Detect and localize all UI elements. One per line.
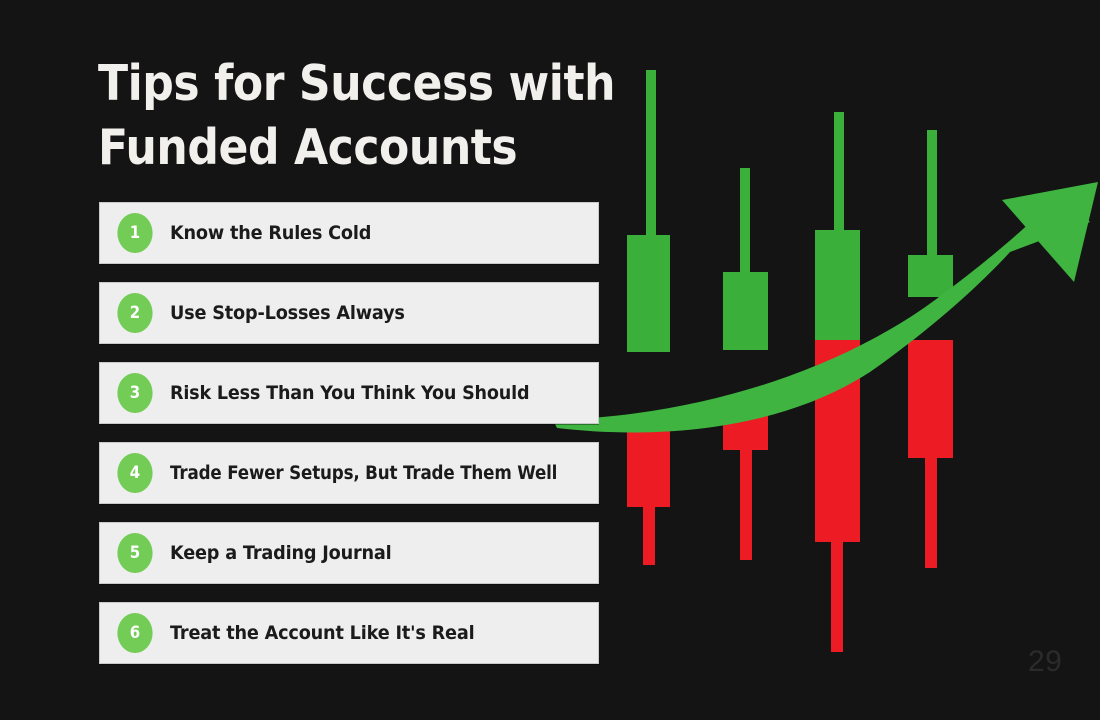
candle-bullish-4 [908,130,953,297]
tip-number-badge: 2 [117,293,152,333]
candle-bullish-2 [723,168,768,350]
tip-number-badge: 4 [117,453,152,493]
tip-label: Use Stop-Losses Always [170,302,405,324]
list-item[interactable]: 6 Treat the Account Like It's Real [99,602,599,664]
candle-bearish-2 [723,412,768,560]
tip-number-badge: 6 [117,613,152,653]
list-item[interactable]: 1 Know the Rules Cold [99,202,599,264]
candle-bullish-1 [627,70,670,352]
tips-list: 1 Know the Rules Cold 2 Use Stop-Losses … [99,202,609,682]
tip-label: Trade Fewer Setups, But Trade Them Well [170,463,557,484]
candle-bearish-1 [627,423,670,565]
tip-number-badge: 1 [117,213,152,253]
trend-arrow-up-icon [553,182,1098,432]
tip-label: Risk Less Than You Think You Should [170,382,529,404]
page-title-line-2: Funded Accounts [98,116,566,180]
page-title-line-1: Tips for Success with [98,52,566,116]
tip-label: Know the Rules Cold [170,222,371,244]
candle-bullish-3 [815,112,860,350]
list-item[interactable]: 2 Use Stop-Losses Always [99,282,599,344]
page-number: 29 [1028,645,1062,679]
list-item[interactable]: 5 Keep a Trading Journal [99,522,599,584]
slide-canvas: Tips for Success with Funded Accounts 1 … [0,0,1100,720]
tip-label: Keep a Trading Journal [170,542,392,564]
candle-bearish-4 [908,340,953,568]
tip-number-badge: 5 [117,533,152,573]
tip-number-badge: 3 [117,373,152,413]
page-title: Tips for Success with Funded Accounts [98,52,618,180]
list-item[interactable]: 4 Trade Fewer Setups, But Trade Them Wel… [99,442,599,504]
candle-bearish-3 [815,340,860,652]
tip-label: Treat the Account Like It's Real [170,622,474,644]
list-item[interactable]: 3 Risk Less Than You Think You Should [99,362,599,424]
